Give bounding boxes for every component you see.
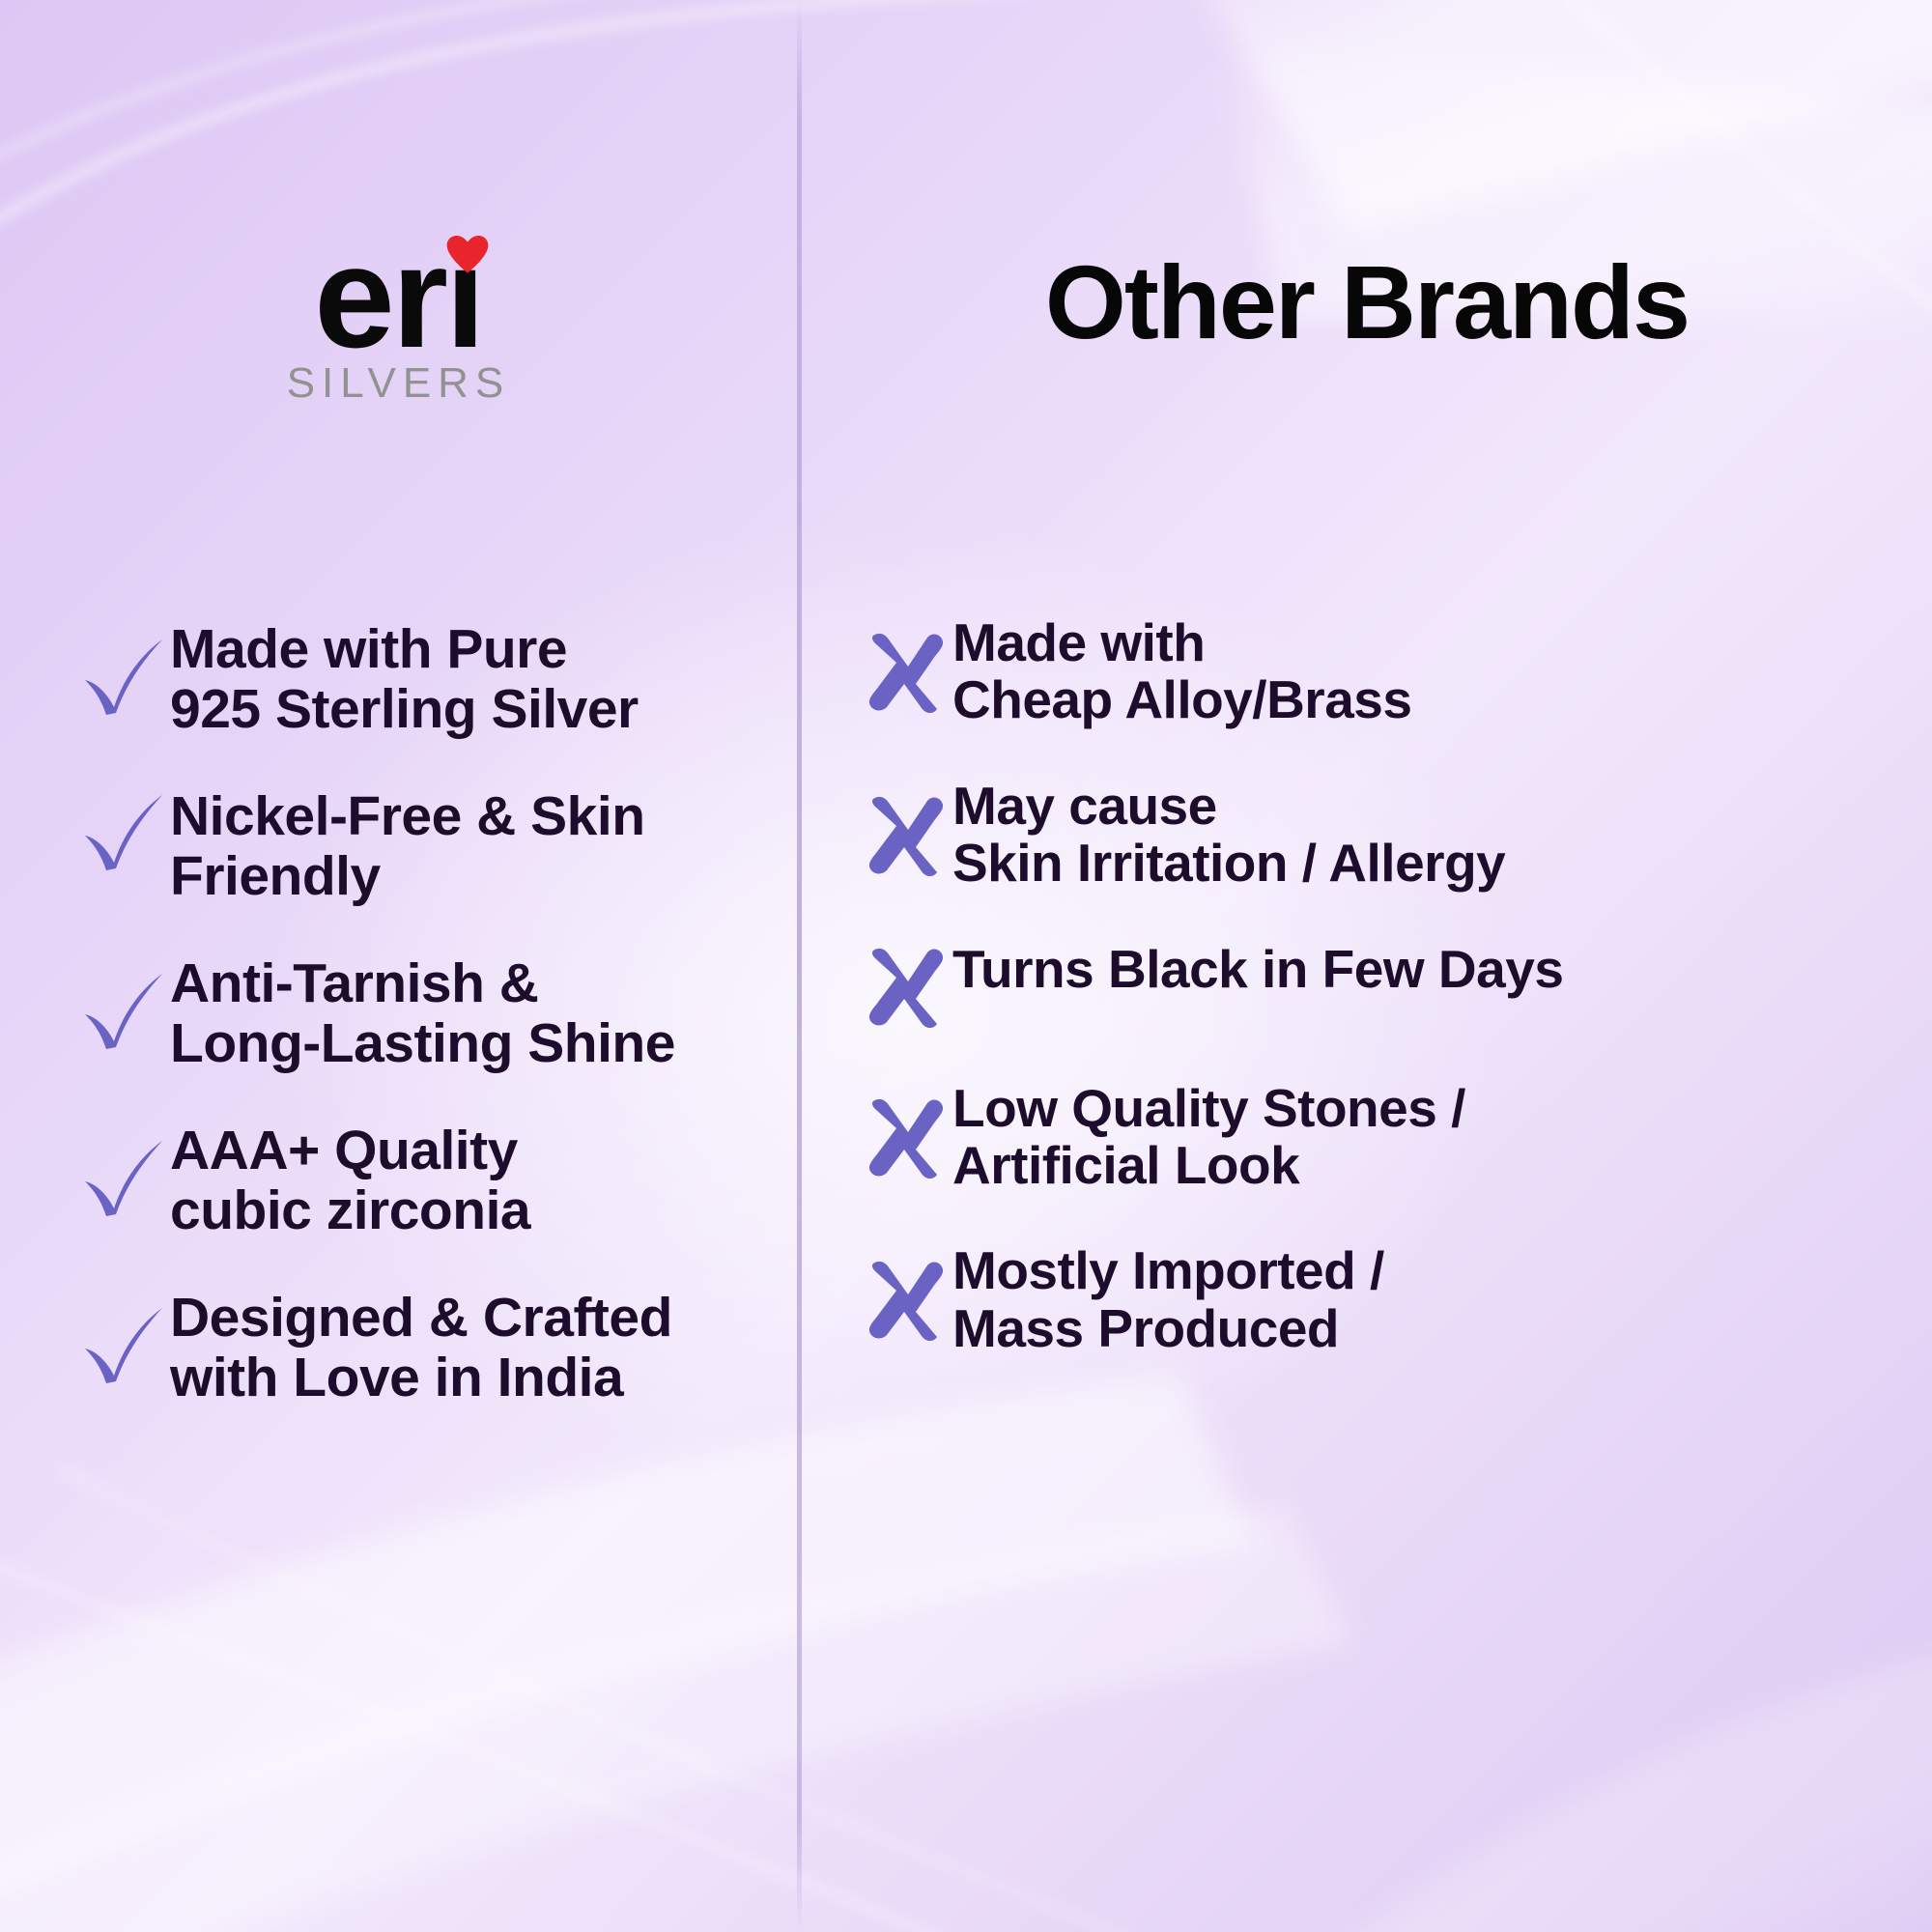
logo-wordmark: eri — [314, 230, 482, 363]
check-icon — [77, 964, 170, 1057]
cons-list: Made with Cheap Alloy/Brass May cause Sk… — [860, 611, 1922, 1357]
check-icon — [77, 630, 170, 723]
other-brands-column: Other Brands Made with Cheap Alloy/Brass… — [802, 0, 1932, 1932]
pros-list: Made with Pure 925 Sterling Silver Nicke… — [77, 616, 797, 1407]
list-item: Mostly Imported / Mass Produced — [860, 1238, 1922, 1357]
list-item-label: Mostly Imported / Mass Produced — [952, 1238, 1384, 1357]
list-item-label: Nickel-Free & Skin Friendly — [170, 783, 797, 906]
list-item: Turns Black in Few Days — [860, 937, 1922, 1032]
list-item-label: Low Quality Stones / Artificial Look — [952, 1076, 1465, 1195]
list-item: Made with Pure 925 Sterling Silver — [77, 616, 797, 739]
list-item-label: May cause Skin Irritation / Allergy — [952, 774, 1505, 893]
check-icon — [77, 785, 170, 878]
list-item: Made with Cheap Alloy/Brass — [860, 611, 1922, 729]
list-item-label: Turns Black in Few Days — [952, 937, 1563, 998]
list-item: Designed & Crafted with Love in India — [77, 1285, 797, 1407]
cross-icon — [860, 1252, 952, 1345]
list-item-label: Made with Cheap Alloy/Brass — [952, 611, 1411, 729]
list-item-label: Anti-Tarnish & Long-Lasting Shine — [170, 951, 675, 1073]
list-item-label: Designed & Crafted with Love in India — [170, 1285, 672, 1407]
list-item: Low Quality Stones / Artificial Look — [860, 1076, 1922, 1195]
list-item-label: AAA+ Quality cubic zirconia — [170, 1118, 530, 1240]
list-item: Anti-Tarnish & Long-Lasting Shine — [77, 951, 797, 1073]
list-item: Nickel-Free & Skin Friendly — [77, 783, 797, 906]
cross-icon — [860, 1090, 952, 1182]
brand-column: eri SILVERS Made with Pure 925 Sterling … — [0, 0, 797, 1932]
list-item-label: Made with Pure 925 Sterling Silver — [170, 616, 639, 739]
page-title: Other Brands — [802, 241, 1932, 362]
cross-icon — [860, 939, 952, 1032]
check-icon — [77, 1131, 170, 1224]
cross-icon — [860, 787, 952, 880]
list-item: May cause Skin Irritation / Allergy — [860, 774, 1922, 893]
cross-icon — [860, 624, 952, 717]
brand-logo: eri SILVERS — [0, 230, 797, 408]
check-icon — [77, 1298, 170, 1391]
list-item: AAA+ Quality cubic zirconia — [77, 1118, 797, 1240]
comparison-infographic: eri SILVERS Made with Pure 925 Sterling … — [0, 0, 1932, 1932]
heart-icon — [446, 236, 489, 274]
